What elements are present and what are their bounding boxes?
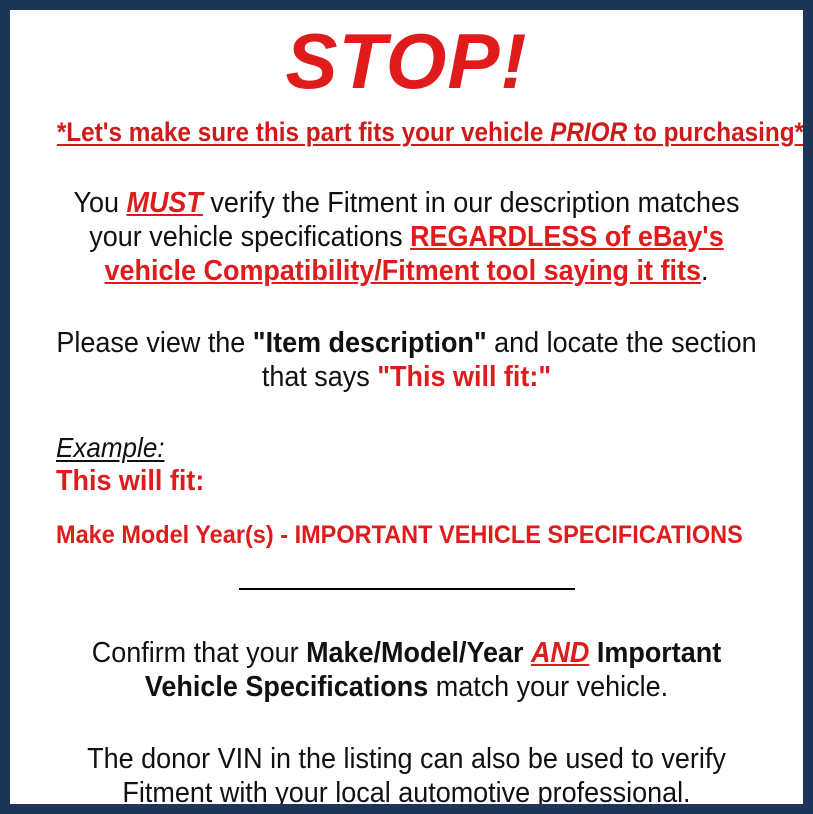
para3-seg1: Confirm that your bbox=[92, 637, 306, 669]
para3-seg5: match your vehicle. bbox=[428, 671, 668, 703]
para2-item-description-emphasis: "Item description" bbox=[253, 327, 487, 359]
example-spec-line: Make Model Year(s) - IMPORTANT VEHICLE S… bbox=[56, 498, 751, 550]
subtitle-banner: *Let's make sure this part fits your veh… bbox=[57, 106, 756, 148]
page-title: STOP! bbox=[18, 10, 795, 106]
example-fit-heading: This will fit: bbox=[56, 464, 743, 498]
subtitle-prior-emphasis: PRIOR bbox=[550, 117, 627, 147]
fitment-notice-card: STOP! *Let's make sure this part fits yo… bbox=[0, 0, 813, 814]
subtitle-after: to purchasing* bbox=[627, 117, 804, 147]
paragraph-verify-fitment: You MUST verify the Fitment in our descr… bbox=[45, 148, 768, 288]
paragraph-confirm-match: Confirm that your Make/Model/Year AND Im… bbox=[45, 598, 768, 704]
paragraph-donor-vin: The donor VIN in the listing can also be… bbox=[45, 704, 768, 810]
closing-thank-you: Thank you for confirming Fitment! bbox=[41, 810, 771, 814]
para3-make-model-year-emphasis: Make/Model/Year bbox=[306, 637, 523, 669]
notice-content: STOP! *Let's make sure this part fits yo… bbox=[10, 10, 803, 804]
divider-wrap bbox=[18, 550, 795, 598]
para3-and-emphasis: AND bbox=[531, 637, 589, 669]
para1-seg5: . bbox=[701, 255, 708, 287]
subtitle-before: *Let's make sure this part fits your veh… bbox=[57, 117, 550, 147]
para2-seg1: Please view the bbox=[56, 327, 252, 359]
para1-must-emphasis: MUST bbox=[126, 187, 202, 219]
horizontal-rule bbox=[239, 588, 575, 590]
example-label: Example: bbox=[56, 432, 165, 464]
para2-this-will-fit-emphasis: "This will fit:" bbox=[377, 361, 551, 393]
example-block: Example: This will fit: Make Model Year(… bbox=[18, 394, 795, 550]
paragraph-item-description: Please view the "Item description" and l… bbox=[45, 288, 768, 394]
para1-seg1: You bbox=[73, 187, 126, 219]
